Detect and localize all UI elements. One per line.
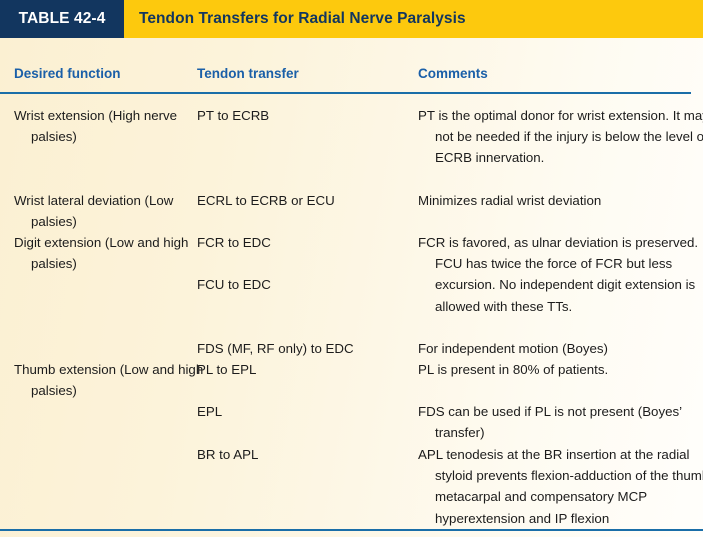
cell-comments: PT is the optimal donor for wrist extens… xyxy=(418,105,703,169)
column-header-tendon-transfer: Tendon transfer xyxy=(197,66,299,81)
bottom-border-rule xyxy=(0,529,703,531)
cell-desired-function: Digit extension (Low and high palsies) xyxy=(14,232,209,274)
cell-comments: FCR is favored, as ulnar deviation is pr… xyxy=(418,232,703,317)
table-number-label: TABLE 42-4 xyxy=(19,10,106,28)
cell-tendon-transfer: PL to EPL xyxy=(197,359,429,380)
cell-desired-function: Thumb extension (Low and high palsies) xyxy=(14,359,209,401)
cell-tendon-transfer: PT to ECRB xyxy=(197,105,429,126)
table-title: Tendon Transfers for Radial Nerve Paraly… xyxy=(139,0,466,38)
cell-tendon-transfer: ECRL to ECRB or ECU xyxy=(197,190,429,211)
cell-tendon-transfer: EPL xyxy=(197,401,429,422)
header-divider-rule xyxy=(0,92,691,94)
cell-comments: For independent motion (Boyes) xyxy=(418,338,703,359)
column-header-comments: Comments xyxy=(418,66,488,81)
cell-desired-function: Wrist lateral deviation (Low palsies) xyxy=(14,190,209,232)
cell-comments: Minimizes radial wrist deviation xyxy=(418,190,703,211)
column-header-desired-function: Desired function xyxy=(14,66,121,81)
cell-tendon-transfer: FDS (MF, RF only) to EDC xyxy=(197,338,429,359)
table-number-block: TABLE 42-4 xyxy=(0,0,124,38)
cell-tendon-transfer: FCU to EDC xyxy=(197,274,429,295)
column-header-row: Desired function Tendon transfer Comment… xyxy=(0,66,703,88)
cell-comments: FDS can be used if PL is not present (Bo… xyxy=(418,401,703,443)
cell-desired-function: Wrist extension (High nerve palsies) xyxy=(14,105,209,147)
cell-comments: APL tenodesis at the BR insertion at the… xyxy=(418,444,703,529)
table-figure: TABLE 42-4 Tendon Transfers for Radial N… xyxy=(0,0,703,537)
cell-tendon-transfer: FCR to EDC xyxy=(197,232,429,253)
cell-comments: PL is present in 80% of patients. xyxy=(418,359,703,380)
table-title-bar: TABLE 42-4 Tendon Transfers for Radial N… xyxy=(0,0,703,38)
cell-tendon-transfer: BR to APL xyxy=(197,444,429,465)
table-body: Wrist extension (High nerve palsies)Wris… xyxy=(0,101,703,529)
